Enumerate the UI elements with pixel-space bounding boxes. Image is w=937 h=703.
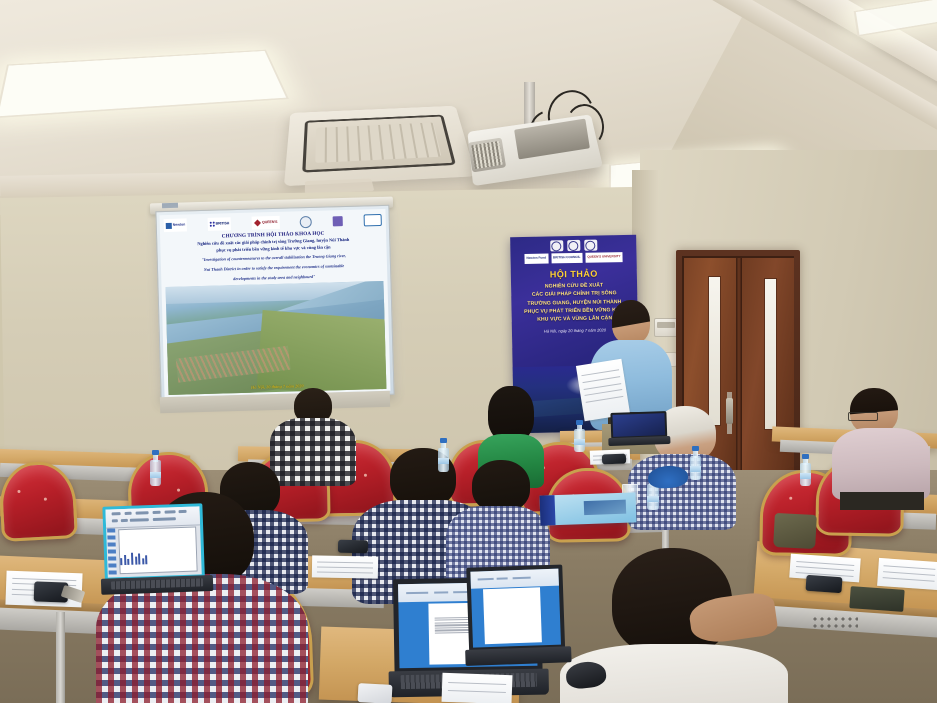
slide-aerial-photo: Hà Nội, 20 tháng 7 năm 2020 (166, 281, 387, 395)
laptop-cyan-lid (102, 503, 205, 580)
laptop-left-edge-base (465, 646, 571, 666)
water-bottle[interactable] (800, 456, 811, 486)
british-council-label: BRITISH (216, 222, 230, 226)
booklet-spine (540, 495, 556, 526)
table-leg (56, 612, 65, 703)
bottle-cap (576, 420, 583, 425)
queens-label: QUEEN'S (262, 221, 277, 225)
newton-fund-logo: Newton (164, 218, 188, 232)
conference-booklet[interactable] (540, 492, 637, 525)
ac-grille (315, 122, 441, 162)
laptop-left-edge[interactable] (466, 564, 573, 670)
queens-crest-icon (254, 219, 261, 226)
door-glass-panel (764, 278, 777, 430)
mobile-phone[interactable] (602, 454, 626, 465)
banner-logo-row-bottom: Newton Fund BRITISH COUNCIL QUEEN'S UNIV… (516, 252, 630, 264)
cassette-air-conditioner (284, 106, 476, 186)
word-ribbon (470, 569, 559, 589)
screen-case-bracket (162, 203, 178, 208)
laptop-presenter-screen[interactable] (612, 413, 665, 437)
table-cable-vent (812, 616, 858, 629)
laptop-cyan-screen[interactable] (105, 506, 201, 577)
word-document-page (483, 588, 541, 645)
mobile-phone[interactable] (805, 575, 842, 593)
banner-queens-logo: QUEEN'S UNIVERSITY (585, 252, 622, 263)
bottle-label (574, 439, 585, 444)
bottle-label (438, 458, 449, 464)
chair-banquet[interactable] (0, 460, 78, 542)
attendee-blue-pattern-shirt (628, 454, 736, 530)
queens-university-logo: QUEEN'S (252, 216, 280, 230)
glasses-icon (848, 412, 878, 421)
presenter-head (612, 300, 650, 344)
bottle-label (647, 496, 659, 502)
bottle-body (150, 460, 161, 486)
notebook[interactable] (849, 586, 904, 612)
attendee-pink-shirt (832, 428, 930, 500)
attendee-head (472, 460, 530, 512)
laptop-presenter[interactable] (607, 411, 670, 449)
person-attendee-pink-shirt (832, 388, 930, 510)
projector-vent-grille (471, 141, 502, 169)
laptop-cyan[interactable] (98, 503, 209, 603)
bottle-cap (152, 450, 159, 455)
paper-document[interactable] (442, 673, 513, 703)
attendee-belt (840, 492, 924, 510)
water-bottle[interactable] (574, 422, 585, 452)
laptop-presenter-lid (610, 411, 667, 439)
bottle-label (690, 466, 701, 472)
spreadsheet-ribbon (105, 506, 200, 528)
spreadsheet-chart (120, 552, 148, 565)
bottle-cap (440, 438, 447, 443)
booklet-cover-image (584, 499, 627, 515)
banner-logo-block: Newton Fund BRITISH COUNCIL QUEEN'S UNIV… (510, 235, 637, 266)
meeting-room-photo: Newton BRITISH QUEEN'S CHƯƠNG TRÌNH HỘI … (0, 0, 937, 703)
partner-circle-logo (300, 215, 312, 227)
door-mullion (736, 258, 742, 470)
spreadsheet-canvas (118, 527, 198, 575)
banner-newton-fund-logo: Newton Fund (524, 254, 548, 264)
mobile-phone[interactable] (358, 683, 393, 703)
water-bottle[interactable] (438, 440, 449, 472)
banner-circle-logo (550, 240, 563, 251)
bottle-body (647, 484, 659, 510)
bottle-body (438, 448, 449, 472)
partner-square-logo (333, 216, 343, 226)
chair-backrest (0, 460, 78, 542)
shoulder-bag[interactable] (773, 513, 817, 549)
bottle-cap (692, 446, 699, 451)
projection-screen: Newton BRITISH QUEEN'S CHƯƠNG TRÌNH HỘI … (155, 205, 394, 401)
bottle-label (800, 473, 811, 478)
partner-wave-logo (364, 213, 382, 225)
newton-fund-label: Newton (173, 223, 185, 227)
banner-circle-logo (584, 240, 597, 251)
paper-document[interactable] (877, 558, 937, 590)
projected-slide: Newton BRITISH QUEEN'S CHƯƠNG TRÌNH HỘI … (160, 209, 391, 397)
banner-british-council-logo: BRITISH COUNCIL (551, 253, 583, 264)
banner-circle-logo (567, 240, 580, 251)
spreadsheet-toolbar (107, 528, 117, 575)
british-council-mark (210, 222, 215, 227)
paper-document[interactable] (312, 555, 378, 578)
laptop-left-edge-screen[interactable] (470, 569, 561, 648)
laptop-presenter-base (608, 436, 670, 446)
laptop-left-edge-lid (466, 564, 565, 651)
british-council-logo: BRITISH (208, 217, 232, 231)
mobile-phone[interactable] (338, 540, 368, 554)
door-glass-panel (708, 276, 721, 426)
ac-inner-frame (302, 115, 456, 173)
bottle-body (800, 463, 811, 486)
water-bottle[interactable] (690, 448, 701, 480)
bottle-body (574, 429, 585, 452)
bottle-cap (802, 454, 809, 459)
banner-logo-row-top (516, 239, 630, 252)
bottle-body (690, 456, 701, 480)
bottle-label (150, 472, 161, 478)
water-bottle[interactable] (150, 452, 161, 486)
newton-fund-mark (166, 222, 172, 228)
